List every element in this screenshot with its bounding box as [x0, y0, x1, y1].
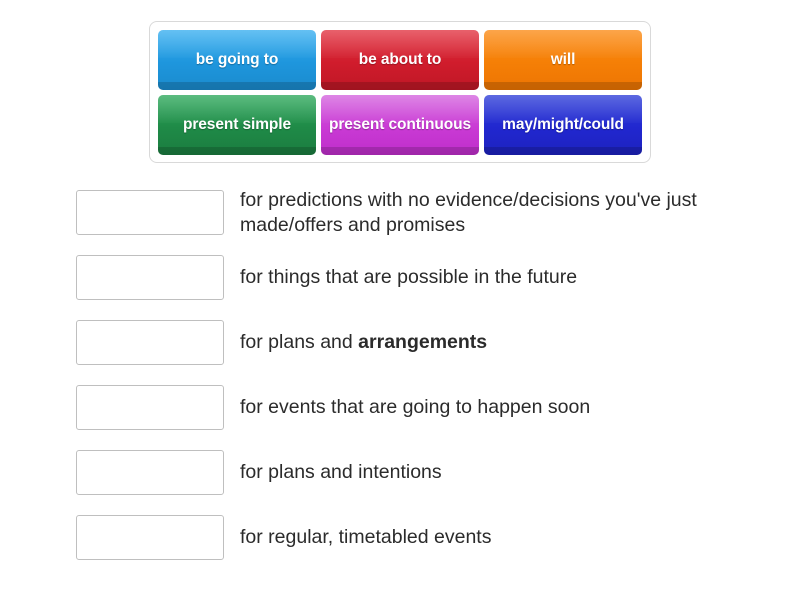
draggable-tile-present-continuous[interactable]: present continuous	[321, 95, 479, 155]
row-prompt: for predictions with no evidence/decisio…	[240, 188, 800, 238]
row-prompt: for plans and arrangements	[240, 330, 800, 355]
tile-label: present continuous	[329, 116, 471, 133]
match-row: for plans and arrangements	[0, 310, 800, 375]
drop-zone[interactable]	[76, 190, 224, 235]
tile-label: be going to	[196, 51, 278, 68]
draggable-tile-may-might-could[interactable]: may/might/could	[484, 95, 642, 155]
drop-zone[interactable]	[76, 320, 224, 365]
tile-label: be about to	[359, 51, 441, 68]
match-rows: for predictions with no evidence/decisio…	[0, 180, 800, 570]
drop-zone[interactable]	[76, 255, 224, 300]
tile-grid: be going to be about to will present sim…	[158, 30, 642, 154]
row-prompt: for events that are going to happen soon	[240, 395, 800, 420]
drop-zone[interactable]	[76, 515, 224, 560]
match-row: for events that are going to happen soon	[0, 375, 800, 440]
tile-label: may/might/could	[502, 116, 624, 133]
match-row: for regular, timetabled events	[0, 505, 800, 570]
match-row: for plans and intentions	[0, 440, 800, 505]
row-prompt: for regular, timetabled events	[240, 525, 800, 550]
draggable-tile-will[interactable]: will	[484, 30, 642, 90]
draggable-tile-be-about-to[interactable]: be about to	[321, 30, 479, 90]
drop-zone[interactable]	[76, 450, 224, 495]
match-row: for predictions with no evidence/decisio…	[0, 180, 800, 245]
drop-zone[interactable]	[76, 385, 224, 430]
row-prompt: for things that are possible in the futu…	[240, 265, 800, 290]
match-row: for things that are possible in the futu…	[0, 245, 800, 310]
tile-bank: be going to be about to will present sim…	[149, 21, 651, 163]
draggable-tile-present-simple[interactable]: present simple	[158, 95, 316, 155]
tile-label: will	[551, 51, 576, 68]
tile-label: present simple	[183, 116, 291, 133]
draggable-tile-be-going-to[interactable]: be going to	[158, 30, 316, 90]
row-prompt: for plans and intentions	[240, 460, 800, 485]
